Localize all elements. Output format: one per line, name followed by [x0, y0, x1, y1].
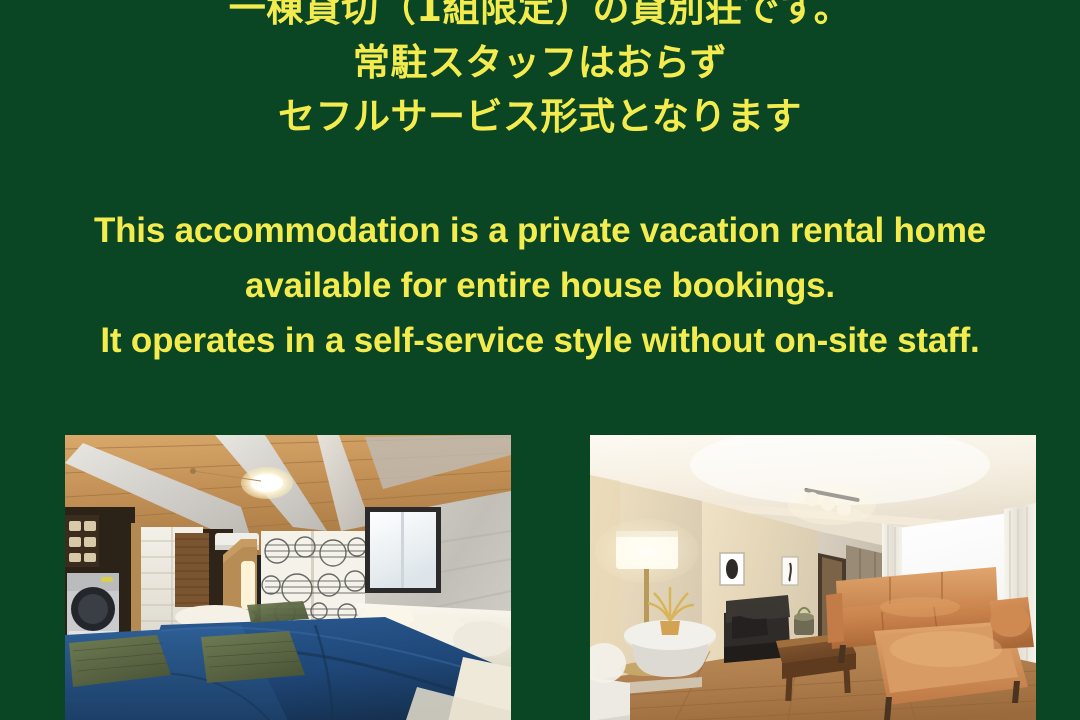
japanese-line-3: セフルサービス形式となります — [0, 90, 1080, 144]
bedroom-photo — [65, 435, 511, 720]
poster-canvas: 一棟貸切（1組限定）の貸別荘です。 常駐スタッフはおらず セフルサービス形式とな… — [0, 0, 1080, 720]
japanese-line-1: 一棟貸切（1組限定）の貸別荘です。 — [0, 0, 1080, 36]
living-room-photo-art — [590, 435, 1036, 720]
english-line-3: It operates in a self-service style with… — [0, 313, 1080, 368]
japanese-text-block: 一棟貸切（1組限定）の貸別荘です。 常駐スタッフはおらず セフルサービス形式とな… — [0, 0, 1080, 144]
bedroom-photo-art — [65, 435, 511, 720]
english-text-block: This accommodation is a private vacation… — [0, 203, 1080, 368]
english-line-2: available for entire house bookings. — [0, 258, 1080, 313]
japanese-line-2: 常駐スタッフはおらず — [0, 36, 1080, 90]
living-room-photo — [590, 435, 1036, 720]
english-line-1: This accommodation is a private vacation… — [0, 203, 1080, 258]
